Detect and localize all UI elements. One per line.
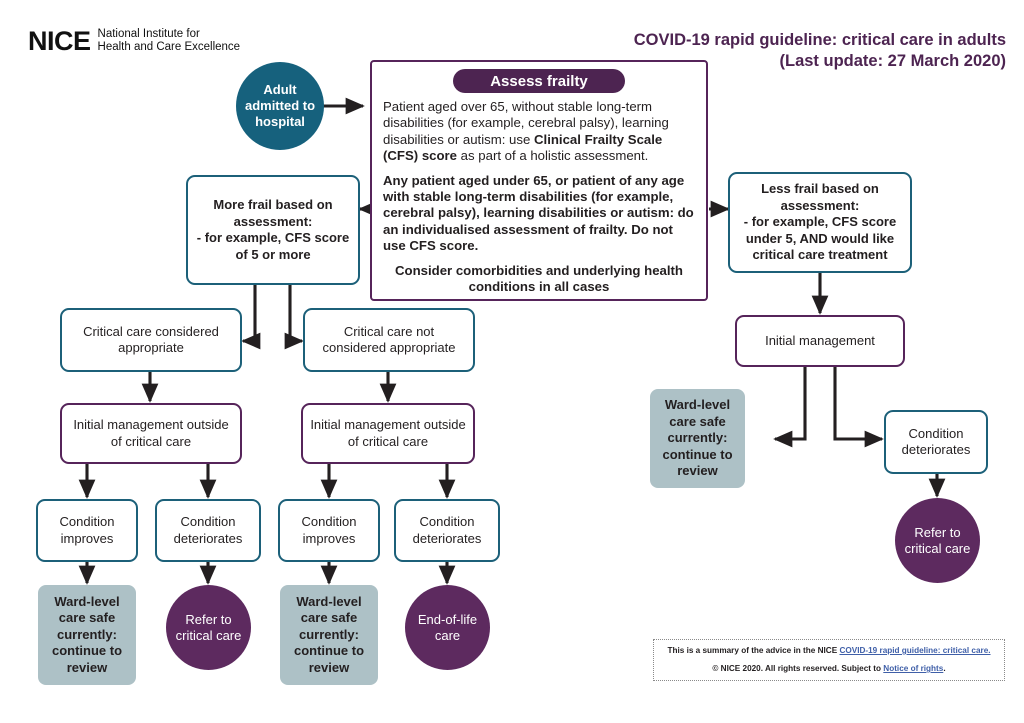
footer-note: This is a summary of the advice in the N…: [653, 639, 1005, 681]
node-adult-admitted-label: Adult admitted to hospital: [236, 82, 324, 130]
panel-assess-frailty[interactable]: Assess frailty Patient aged over 65, wit…: [370, 60, 708, 301]
node-critical-care-not-considered-appropriate[interactable]: Critical care not considered appropriate: [303, 308, 475, 372]
document-title-line1: COVID-19 rapid guideline: critical care …: [634, 30, 1006, 51]
node-condition-deteriorates-3-label: Condition deteriorates: [892, 426, 980, 459]
node-condition-improves-1-label: Condition improves: [44, 514, 130, 547]
node-refer-to-critical-care-2-label: Refer to critical care: [895, 525, 980, 557]
node-condition-deteriorates-1-label: Condition deteriorates: [163, 514, 253, 547]
node-more-frail[interactable]: More frail based on assessment: - for ex…: [186, 175, 360, 285]
footer-line-2-suffix: .: [943, 664, 945, 673]
assess-frailty-paragraph-2: Any patient aged under 65, or patient of…: [383, 173, 695, 255]
node-initial-management-right[interactable]: Initial management: [735, 315, 905, 367]
node-condition-deteriorates-3[interactable]: Condition deteriorates: [884, 410, 988, 474]
node-initial-mgmt-outside-right-label: Initial management outside of critical c…: [309, 417, 467, 450]
node-ward-level-care-3-label: Ward-level care safe currently: continue…: [656, 397, 739, 480]
node-condition-deteriorates-1[interactable]: Condition deteriorates: [155, 499, 261, 562]
nice-logo: NICE National Institute for Health and C…: [28, 26, 240, 56]
footer-line-1: This is a summary of the advice in the N…: [667, 645, 990, 657]
node-end-of-life-care-label: End-of-life care: [405, 612, 490, 644]
node-condition-improves-2[interactable]: Condition improves: [278, 499, 380, 562]
assess-frailty-title-pill: Assess frailty: [453, 69, 625, 93]
node-condition-improves-1[interactable]: Condition improves: [36, 499, 138, 562]
af-p1-c: as part of a holistic assessment.: [457, 148, 648, 163]
node-ward-level-care-3[interactable]: Ward-level care safe currently: continue…: [650, 389, 745, 488]
node-refer-to-critical-care-2[interactable]: Refer to critical care: [895, 498, 980, 583]
node-ward-level-care-1[interactable]: Ward-level care safe currently: continue…: [38, 585, 136, 685]
assess-frailty-paragraph-1: Patient aged over 65, without stable lon…: [383, 99, 695, 165]
assess-frailty-paragraph-3: Consider comorbidities and underlying he…: [383, 263, 695, 296]
node-condition-deteriorates-2-label: Condition deteriorates: [402, 514, 492, 547]
node-initial-mgmt-right-label: Initial management: [765, 333, 875, 350]
footer-line-1-text: This is a summary of the advice in the N…: [667, 646, 839, 655]
node-refer-to-critical-care-1-label: Refer to critical care: [166, 612, 251, 644]
node-less-frail-label: Less frail based on assessment: - for ex…: [736, 181, 904, 264]
node-end-of-life-care[interactable]: End-of-life care: [405, 585, 490, 670]
node-initial-mgmt-outside-left-label: Initial management outside of critical c…: [68, 417, 234, 450]
node-refer-to-critical-care-1[interactable]: Refer to critical care: [166, 585, 251, 670]
node-ward-level-care-2-label: Ward-level care safe currently: continue…: [286, 594, 372, 677]
footer-line-2: © NICE 2020. All rights reserved. Subjec…: [712, 663, 945, 675]
node-critical-care-considered-appropriate[interactable]: Critical care considered appropriate: [60, 308, 242, 372]
node-initial-management-outside-left[interactable]: Initial management outside of critical c…: [60, 403, 242, 464]
nice-logo-mark: NICE: [28, 26, 91, 56]
footer-guideline-link[interactable]: COVID-19 rapid guideline: critical care.: [839, 646, 990, 655]
node-initial-management-outside-right[interactable]: Initial management outside of critical c…: [301, 403, 475, 464]
node-condition-improves-2-label: Condition improves: [286, 514, 372, 547]
node-cc-appropriate-label: Critical care considered appropriate: [68, 324, 234, 357]
node-condition-deteriorates-2[interactable]: Condition deteriorates: [394, 499, 500, 562]
nice-logo-strapline: National Institute for Health and Care E…: [98, 28, 241, 53]
node-adult-admitted-to-hospital[interactable]: Adult admitted to hospital: [236, 62, 324, 150]
node-less-frail[interactable]: Less frail based on assessment: - for ex…: [728, 172, 912, 273]
node-more-frail-label: More frail based on assessment: - for ex…: [194, 197, 352, 263]
node-ward-level-care-2[interactable]: Ward-level care safe currently: continue…: [280, 585, 378, 685]
footer-line-2-text: © NICE 2020. All rights reserved. Subjec…: [712, 664, 883, 673]
flowchart-canvas: NICE National Institute for Health and C…: [0, 0, 1024, 723]
node-cc-not-appropriate-label: Critical care not considered appropriate: [311, 324, 467, 357]
footer-notice-of-rights-link[interactable]: Notice of rights: [883, 664, 943, 673]
node-ward-level-care-1-label: Ward-level care safe currently: continue…: [44, 594, 130, 677]
